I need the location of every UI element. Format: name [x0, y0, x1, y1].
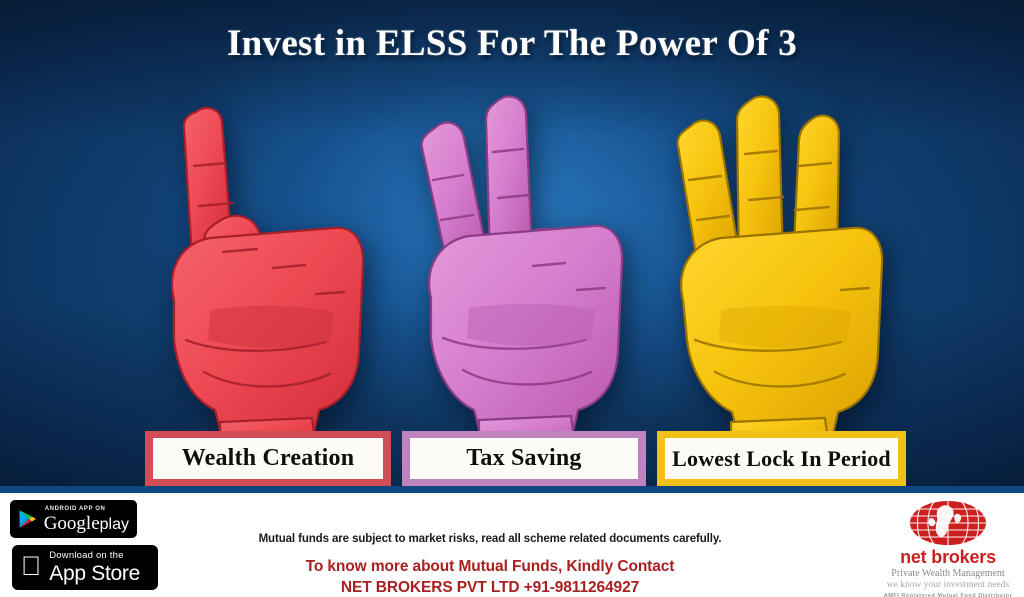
contact-line-2: NET BROKERS PVT LTD +91-9811264927	[180, 579, 800, 597]
app-store-sup-label: Download on the	[49, 551, 140, 561]
google-play-play-label: play	[100, 516, 129, 533]
globe-icon	[909, 500, 987, 546]
label-text-wealth-creation: Wealth Creation	[182, 445, 355, 472]
label-inner-tax-saving: Tax Saving	[410, 438, 638, 479]
contact-line-1: To know more about Mutual Funds, Kindly …	[180, 558, 800, 576]
net-brokers-logo[interactable]: net brokers Private Wealth Management we…	[878, 500, 1018, 597]
hero-bottom-band	[0, 486, 1024, 493]
label-box-tax-saving[interactable]: Tax Saving	[402, 431, 646, 486]
two-finger-hand	[415, 92, 630, 442]
app-store-badge[interactable]:  Download on the App Store	[12, 545, 158, 590]
one-finger-hand	[150, 104, 365, 444]
label-inner-wealth-creation: Wealth Creation	[153, 438, 383, 479]
label-box-wealth-creation[interactable]: Wealth Creation	[145, 431, 391, 486]
label-box-lowest-lock-in-period[interactable]: Lowest Lock In Period	[657, 431, 906, 486]
logo-brand-name: net brokers	[878, 548, 1018, 566]
label-box-group: Wealth Creation Tax Saving Lowest Lock I…	[0, 431, 1024, 487]
risk-disclaimer-text: Mutual funds are subject to market risks…	[180, 533, 800, 545]
google-play-triangle-icon	[18, 506, 38, 532]
google-play-badge[interactable]: ANDROID APP ON Googleplay	[10, 500, 137, 538]
logo-tagline-1: Private Wealth Management	[878, 568, 1018, 579]
label-inner-lowest-lock-in-period: Lowest Lock In Period	[665, 438, 898, 479]
apple-logo-icon: 	[21, 553, 41, 580]
poster-canvas: Invest in ELSS For The Power Of 3	[0, 0, 1024, 597]
three-finger-hand	[665, 92, 890, 442]
logo-tagline-2: we know your investment needs	[878, 580, 1018, 590]
contact-block: To know more about Mutual Funds, Kindly …	[180, 558, 800, 597]
logo-tagline-3: AMFI Registered Mutual Fund Distributor	[878, 593, 1018, 597]
google-play-sup-label: ANDROID APP ON	[45, 506, 129, 512]
label-text-tax-saving: Tax Saving	[466, 445, 581, 472]
page-title: Invest in ELSS For The Power Of 3	[0, 22, 1024, 65]
google-play-main-label: Google	[44, 513, 100, 534]
label-text-lowest-lock-in-period: Lowest Lock In Period	[672, 446, 891, 472]
app-store-main-label: App Store	[49, 563, 140, 584]
